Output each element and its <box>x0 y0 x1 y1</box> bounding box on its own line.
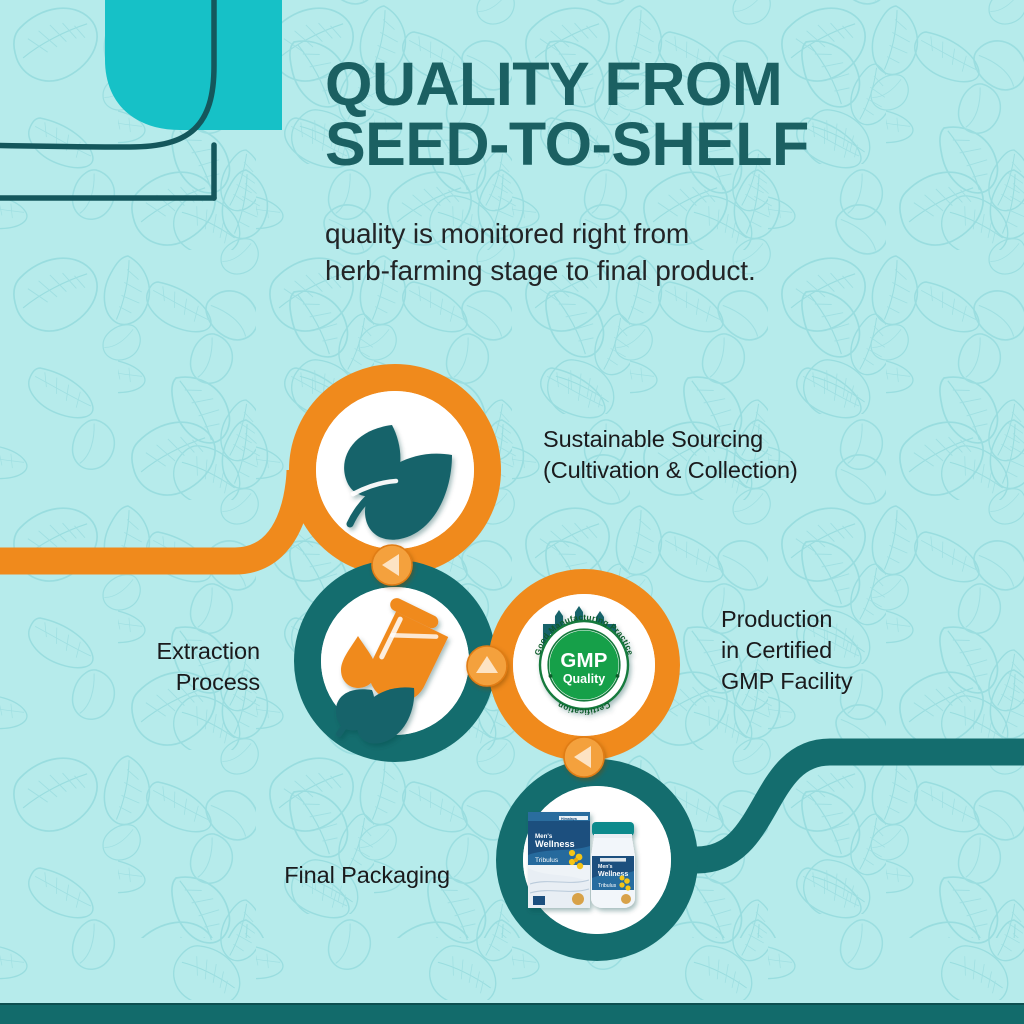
step-label-line: in Certified <box>721 635 971 666</box>
step-label-line: Production <box>721 604 971 635</box>
gmp-sub-text: Quality <box>563 672 605 686</box>
bottle-title-line1: Men's <box>598 864 613 870</box>
subheadline-block: quality is monitored right from herb-far… <box>325 215 945 289</box>
step-label-line: GMP Facility <box>721 666 971 697</box>
step-label-line: Process <box>60 667 260 698</box>
step-label-gmp-production: Production in Certified GMP Facility <box>721 604 971 697</box>
arrow-badge-2[interactable] <box>467 646 507 686</box>
connector-orange-left <box>0 470 300 561</box>
headline-block: QUALITY FROM SEED-TO-SHELF <box>325 55 935 175</box>
bottom-accent-bar <box>0 1003 1024 1024</box>
connector-teal-right <box>697 752 1024 860</box>
box-brand: Himalaya <box>561 817 578 821</box>
headline-line-1: QUALITY FROM <box>325 55 935 115</box>
step-label-line: Sustainable Sourcing <box>543 424 903 455</box>
arrow-badge-1[interactable] <box>372 545 412 585</box>
step-node-final-packaging[interactable]: Men's Wellness Tribulus Himalaya <box>510 773 685 948</box>
step-node-extraction-process[interactable] <box>308 574 483 749</box>
arrow-badge-3[interactable] <box>564 737 604 777</box>
bottle-subtitle: Tribulus <box>598 883 617 889</box>
step-node-gmp-production[interactable]: Good Manufacturing Practice Certificatio… <box>501 582 668 749</box>
step-label-sustainable-sourcing: Sustainable Sourcing (Cultivation & Coll… <box>543 424 903 486</box>
product-box-bottle-icon: Men's Wellness Tribulus Himalaya <box>528 812 635 908</box>
step-label-line: Final Packaging <box>170 860 450 891</box>
subheadline-line-2: herb-farming stage to final product. <box>325 252 945 289</box>
step-node-sustainable-sourcing[interactable] <box>303 378 488 563</box>
step-label-extraction-process: Extraction Process <box>60 636 260 698</box>
box-title-line2: Wellness <box>535 839 575 849</box>
infographic-poster: Good Manufacturing Practice Certificatio… <box>0 0 1024 1024</box>
step-label-final-packaging: Final Packaging <box>170 860 450 891</box>
subheadline-line-1: quality is monitored right from <box>325 215 945 252</box>
gmp-main-text: GMP <box>560 649 607 672</box>
step-label-line: (Cultivation & Collection) <box>543 455 903 486</box>
step-label-line: Extraction <box>60 636 260 667</box>
box-subtitle: Tribulus <box>535 857 559 864</box>
headline-line-2: SEED-TO-SHELF <box>325 115 935 175</box>
